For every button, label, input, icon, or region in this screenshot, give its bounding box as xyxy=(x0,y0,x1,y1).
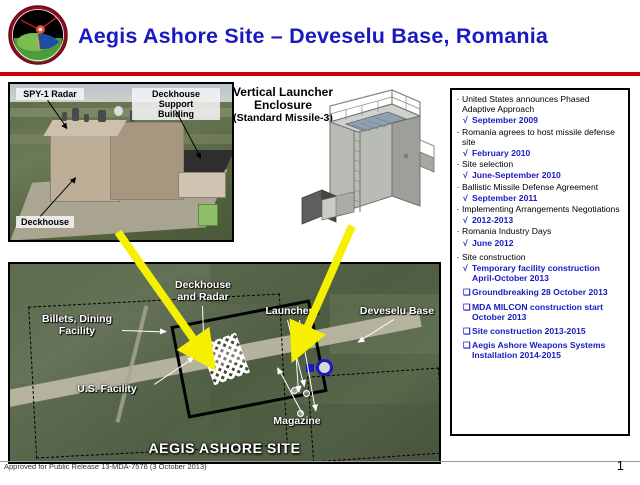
render-roof xyxy=(43,120,126,136)
milestone-subtext: June 2012 xyxy=(472,238,624,248)
bullet-icon: · xyxy=(454,127,462,147)
milestone-subtext: September 2011 xyxy=(472,193,624,203)
aerial-launcher-marker xyxy=(303,390,310,397)
milestone-subtext: Aegis Ashore Weapons Systems Installatio… xyxy=(472,340,624,360)
milestone-list: · United States announces Phased Adaptiv… xyxy=(450,88,630,436)
render-radome xyxy=(114,106,123,116)
check-icon: √ xyxy=(463,263,472,283)
milestone-item: · Site construction xyxy=(454,252,624,262)
page-title: Aegis Ashore Site – Deveselu Base, Roman… xyxy=(78,24,623,49)
render-antenna xyxy=(72,108,79,121)
milestone-subitem: ❑ Groundbreaking 28 October 2013 xyxy=(463,287,624,297)
checkbox-icon: ❑ xyxy=(463,302,472,322)
milestone-item: · Romania Industry Days xyxy=(454,226,624,236)
mda-seal-icon xyxy=(7,4,69,66)
milestone-item: · Ballistic Missile Defense Agreement xyxy=(454,182,624,192)
check-icon: √ xyxy=(463,238,472,248)
milestone-subtext: June-September 2010 xyxy=(472,170,624,180)
milestone-subtext: Temporary facility construction April-Oc… xyxy=(472,263,624,283)
render-support-building xyxy=(178,172,226,198)
milestone-item: · Implementing Arrangements Negotiations xyxy=(454,204,624,214)
check-icon: √ xyxy=(463,115,472,125)
page-number: 1 xyxy=(617,458,624,473)
milestone-subitem: √ September 2009 xyxy=(463,115,624,125)
check-icon: √ xyxy=(463,170,472,180)
milestone-text: Implementing Arrangements Negotiations xyxy=(462,204,624,214)
milestone-subitem: √ June-September 2010 xyxy=(463,170,624,180)
bullet-icon: · xyxy=(454,182,462,192)
deckhouse-render: SPY-1 Radar Deckhouse Support Building D… xyxy=(8,82,234,242)
bullet-icon: · xyxy=(454,204,462,214)
bullet-icon: · xyxy=(454,226,462,236)
aerial-radar-marker xyxy=(316,359,333,376)
checkbox-icon: ❑ xyxy=(463,326,472,336)
milestone-text: Site selection xyxy=(462,159,624,169)
check-icon: √ xyxy=(463,193,472,203)
milestone-subtext: Site construction 2013-2015 xyxy=(472,326,624,336)
label-billets-dining-facility: Billets, Dining Facility xyxy=(34,314,120,337)
check-icon: √ xyxy=(463,215,472,225)
milestone-text: Romania agrees to host missile defense s… xyxy=(462,127,624,147)
render-equipment-shelter xyxy=(198,204,218,226)
label-spy1-radar: SPY-1 Radar xyxy=(16,88,84,100)
aerial-site-photo: Billets, Dining Facility Deckhouse and R… xyxy=(8,262,441,464)
bullet-icon: · xyxy=(454,94,462,114)
milestone-subitem: ❑ MDA MILCON construction start October … xyxy=(463,302,624,322)
header-divider xyxy=(0,72,640,76)
milestone-subtext: Groundbreaking 28 October 2013 xyxy=(472,287,624,297)
milestone-text: Ballistic Missile Defense Agreement xyxy=(462,182,624,192)
label-deckhouse: Deckhouse xyxy=(16,216,74,228)
milestone-text: Site construction xyxy=(462,252,624,262)
milestone-subtext: September 2009 xyxy=(472,115,624,125)
check-icon: √ xyxy=(463,148,472,158)
checkbox-icon: ❑ xyxy=(463,340,472,360)
render-antenna xyxy=(62,112,67,121)
release-statement: Approved for Public Release 13-MDA-7576 … xyxy=(4,462,207,471)
render-antenna xyxy=(84,114,89,122)
vertical-launcher-enclosure-render xyxy=(296,88,436,238)
label-magazine: Magazine xyxy=(260,416,334,428)
milestone-subitem: ❑ Aegis Ashore Weapons Systems Installat… xyxy=(463,340,624,360)
label-launchers: Launchers xyxy=(258,306,326,318)
render-antenna xyxy=(98,110,106,122)
render-deckhouse-block xyxy=(110,122,184,200)
label-deckhouse-support-building: Deckhouse Support Building xyxy=(132,88,220,120)
milestone-subitem: √ February 2010 xyxy=(463,148,624,158)
milestone-text: United States announces Phased Adaptive … xyxy=(462,94,624,114)
milestone-subitem: √ Temporary facility construction April-… xyxy=(463,263,624,283)
milestone-subtext: MDA MILCON construction start October 20… xyxy=(472,302,624,322)
milestone-subitem: √ September 2011 xyxy=(463,193,624,203)
bullet-icon: · xyxy=(454,159,462,169)
label-deckhouse-and-radar: Deckhouse and Radar xyxy=(162,280,244,303)
milestone-subtext: 2012-2013 xyxy=(472,215,624,225)
milestone-item: · United States announces Phased Adaptiv… xyxy=(454,94,624,114)
label-us-facility: U.S. Facility xyxy=(62,384,152,396)
milestone-subitem: ❑ Site construction 2013-2015 xyxy=(463,326,624,336)
milestone-item: · Site selection xyxy=(454,159,624,169)
milestone-subtext: February 2010 xyxy=(472,148,624,158)
milestone-item: · Romania agrees to host missile defense… xyxy=(454,127,624,147)
milestone-subitem: √ June 2012 xyxy=(463,238,624,248)
aerial-photo-title: AEGIS ASHORE SITE xyxy=(10,440,439,456)
milestone-text: Romania Industry Days xyxy=(462,226,624,236)
milestone-subitem: √ 2012-2013 xyxy=(463,215,624,225)
checkbox-icon: ❑ xyxy=(463,287,472,297)
label-deveselu-base: Deveselu Base xyxy=(350,306,441,318)
bullet-icon: · xyxy=(454,252,462,262)
